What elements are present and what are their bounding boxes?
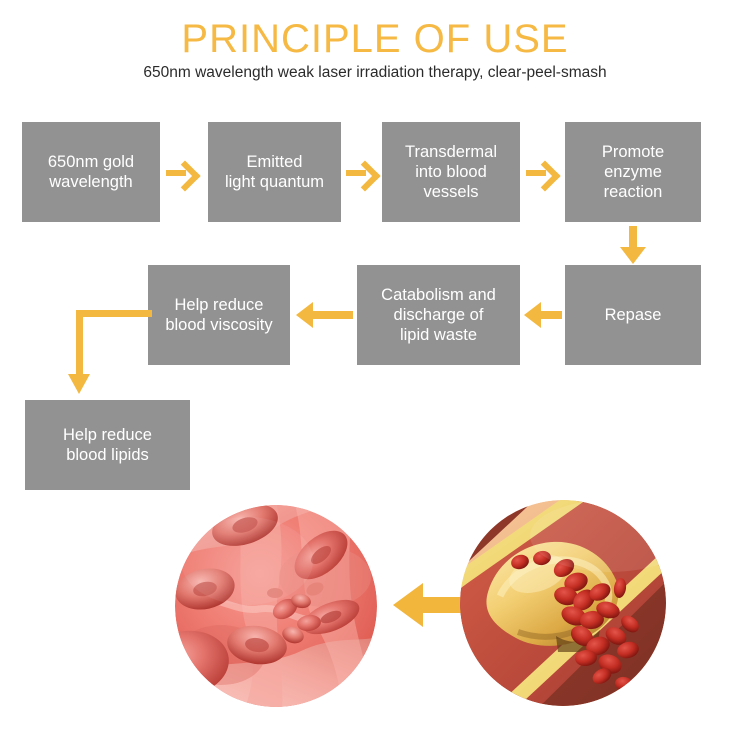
arrow-right-icon-3 bbox=[526, 158, 558, 188]
flow-box-repase: Repase bbox=[565, 265, 701, 365]
page-subtitle: 650nm wavelength weak laser irradiation … bbox=[0, 64, 750, 82]
flow-box-emitted-light-quantum: Emitted light quantum bbox=[208, 122, 341, 222]
arrow-left-icon-2 bbox=[296, 302, 353, 328]
flow-box-650nm-gold-wavelength: 650nm gold wavelength bbox=[22, 122, 160, 222]
arrow-right-icon-1 bbox=[166, 158, 198, 188]
clogged-artery-photo bbox=[460, 500, 666, 706]
arrow-elbow-left-down-icon bbox=[76, 310, 152, 398]
healthy-blood-vessel-photo bbox=[175, 505, 377, 707]
arrow-left-icon-1 bbox=[524, 302, 562, 328]
page-title: PRINCIPLE OF USE bbox=[0, 18, 750, 60]
flow-box-catabolism-discharge-lipid-waste: Catabolism and discharge of lipid waste bbox=[357, 265, 520, 365]
flow-box-transdermal-into-blood-vessels: Transdermal into blood vessels bbox=[382, 122, 520, 222]
flow-box-promote-enzyme-reaction: Promote enzyme reaction bbox=[565, 122, 701, 222]
arrow-right-icon-2 bbox=[346, 158, 378, 188]
flow-box-help-reduce-blood-lipids: Help reduce blood lipids bbox=[25, 400, 190, 490]
arrow-down-icon-1 bbox=[620, 226, 646, 264]
arrow-left-icon-3 bbox=[393, 583, 467, 627]
flow-box-help-reduce-blood-viscosity: Help reduce blood viscosity bbox=[148, 265, 290, 365]
